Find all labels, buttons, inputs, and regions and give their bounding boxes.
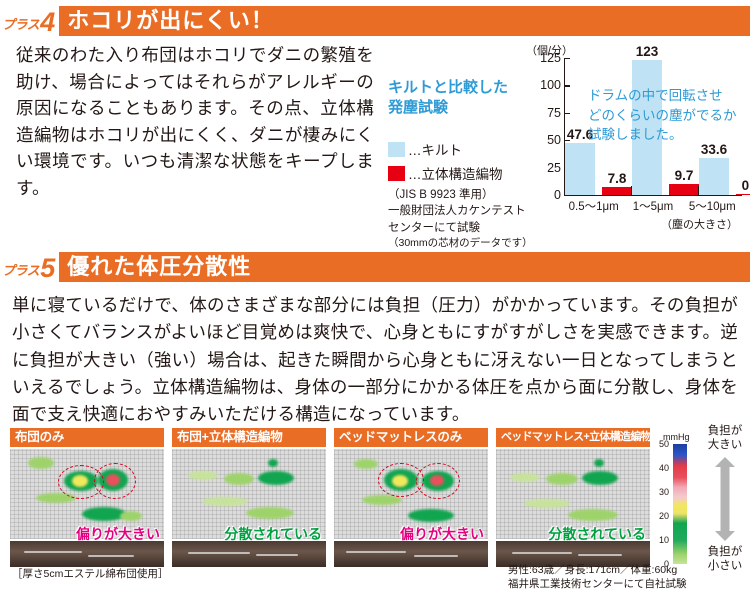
pressure-blob — [246, 507, 294, 519]
chart-bar-value-quilt-1: 123 — [636, 44, 659, 59]
product-feature-page: プラス 4 ホコリが出にくい！ 従来のわた入り布団はホコリでダニの繁殖を助け、場… — [0, 0, 750, 608]
plus-number-label-5: 5 — [40, 255, 55, 282]
side-view-line — [578, 554, 622, 556]
legend-entry-knit: …立体構造編物 — [388, 163, 526, 183]
pressure-blob — [268, 459, 278, 467]
chart-x-axis-labels: 0.5〜1μm 1〜5μm 5〜10μm — [564, 198, 742, 214]
chart-annotation-line-3: 試験しました。 — [588, 125, 748, 145]
dust-test-notes: （JIS B 9923 準用） 一般財団法人カケンテスト センターにて試験 （3… — [388, 187, 526, 251]
legend-swatch-knit-icon — [388, 166, 405, 181]
chart-ytick-50: 50 — [547, 133, 565, 147]
section-5-header: プラス 5 優れた体圧分散性 — [0, 252, 750, 282]
chart-bar-quilt-0: 47.6 — [565, 143, 595, 195]
pressure-hotspot-ring — [94, 463, 136, 499]
pressure-blob — [258, 471, 294, 485]
chart-ytick-75: 75 — [547, 106, 565, 120]
legend-title-line-1: キルトと比較した — [388, 78, 526, 98]
dust-note-org-line-2: センターにて試験 — [388, 220, 526, 236]
side-view-line — [24, 551, 82, 553]
side-view-line — [346, 551, 406, 553]
burden-low-label: 負担が 小さい — [700, 545, 750, 574]
chart-x-axis-caption: （塵の大きさ） — [564, 216, 742, 232]
dust-emission-bar-chart: （個/分） 125 100 75 50 25 0 47.6 7.8 — [524, 42, 748, 238]
pressure-side-view-2 — [334, 541, 488, 567]
dust-test-legend-title: キルトと比較した 発塵試験 — [388, 78, 526, 117]
pressure-panel-futon-plus-knit: 布団+立体構造編物 分散されている — [172, 428, 326, 576]
burden-indicator: 負担が 大きい 負担が 小さい — [700, 424, 750, 574]
pressure-blob — [202, 497, 248, 506]
section-4-body-text: 従来のわた入り布団はホコリでダニの繁殖を助け、場合によってはそれらがアレルギーの… — [16, 42, 374, 202]
side-view-line — [256, 554, 298, 556]
pressure-side-view-1 — [172, 541, 326, 567]
dust-note-sample: （30mmの芯材のデータです） — [388, 236, 526, 251]
pressure-panel-title-3: ベッドマットレス+立体構造編物 — [496, 428, 650, 447]
pressure-blob — [120, 511, 142, 521]
pressure-blob — [408, 509, 454, 522]
chart-bar-value-knit-1: 9.7 — [675, 168, 694, 183]
burden-low-line-1: 負担が — [700, 545, 750, 559]
legend-label-quilt: …キルト — [408, 139, 462, 159]
chart-xlabel-1: 1〜5μm — [623, 198, 682, 214]
pressure-blob — [354, 459, 378, 469]
side-view-line — [414, 555, 458, 557]
pressure-scale-tick-50: 50 — [659, 439, 669, 449]
arrow-down-tip-icon — [715, 531, 735, 541]
legend-label-knit: …立体構造編物 — [408, 163, 503, 183]
arrow-stem — [721, 466, 730, 532]
pressure-scale-tick-30: 30 — [659, 487, 669, 497]
chart-ytick-25: 25 — [547, 161, 565, 175]
pressure-blob — [510, 473, 540, 482]
pressure-side-view-0 — [10, 541, 164, 567]
footnote-right-line-2: 福井県工業技術センターにて自社試験 — [508, 578, 687, 592]
side-view-line — [512, 552, 572, 554]
chart-ytick-125: 125 — [540, 51, 565, 65]
pressure-blob — [582, 471, 618, 485]
section-5-body-text: 単に寝ているだけで、体のさまざまな部分には負担（圧力）がかかっています。その負担… — [12, 292, 738, 428]
burden-high-line-2: 大きい — [700, 438, 750, 452]
plus-tag-5: プラス 5 — [0, 252, 59, 282]
pressure-panel-title-2: ベッドマットレスのみ — [334, 428, 488, 447]
pressure-blob — [28, 457, 54, 469]
footnote-left: ［厚さ5cmエステル綿布団使用］ — [12, 568, 168, 582]
pressure-blob — [188, 471, 218, 480]
legend-entry-quilt: …キルト — [388, 139, 526, 159]
pressure-blob — [594, 459, 604, 467]
chart-xlabel-0: 0.5〜1μm — [564, 198, 623, 214]
chart-annotation-line-2: どのくらいの塵がでるか — [588, 106, 748, 126]
pressure-scale-gradient — [673, 444, 687, 564]
section-4-header: プラス 4 ホコリが出にくい！ — [0, 6, 750, 36]
plus-number-label: 4 — [40, 9, 55, 36]
side-view-line — [188, 552, 250, 554]
burden-high-line-1: 負担が — [700, 424, 750, 438]
section-4-band-tail — [286, 6, 750, 36]
chart-bar-value-knit-0: 7.8 — [608, 171, 627, 186]
plus-word-label: プラス — [2, 14, 39, 36]
chart-bar-knit-2: 0.8 — [736, 194, 750, 195]
dust-test-legend: キルトと比較した 発塵試験 …キルト …立体構造編物 （JIS B 9923 準… — [388, 78, 526, 251]
chart-ytick-100: 100 — [540, 78, 565, 92]
pressure-panel-mattress-plus-knit: ベッドマットレス+立体構造編物 分散されている — [496, 428, 650, 576]
pressure-hotspot-ring — [416, 463, 460, 499]
chart-annotation: ドラムの中で回転させ どのくらいの塵がでるか 試験しました。 — [588, 86, 748, 145]
burden-low-line-2: 小さい — [700, 559, 750, 573]
pressure-blob — [524, 499, 570, 508]
pressure-panel-title-1: 布団+立体構造編物 — [172, 428, 326, 447]
pressure-blob — [224, 473, 254, 485]
pressure-scale-tick-20: 20 — [659, 511, 669, 521]
chart-annotation-line-1: ドラムの中で回転させ — [588, 86, 748, 106]
pressure-scale-ticks: 50 40 30 20 10 0 — [655, 444, 671, 564]
chart-bar-knit-1: 9.7 — [669, 184, 699, 195]
section-5-band-tail — [263, 252, 750, 282]
pressure-blob — [568, 509, 618, 521]
dust-note-standard: （JIS B 9923 準用） — [388, 187, 526, 203]
burden-high-label: 負担が 大きい — [700, 424, 750, 453]
pressure-scale-tick-10: 10 — [659, 535, 669, 545]
chart-bar-value-knit-2: 0.8 — [742, 178, 750, 193]
side-view-line — [88, 555, 134, 557]
legend-entries: …キルト …立体構造編物 — [388, 139, 526, 183]
section-4-title: ホコリが出にくい！ — [59, 6, 286, 36]
section-5-title: 優れた体圧分散性 — [59, 252, 263, 282]
chart-bar-quilt-2: 33.6 — [699, 158, 729, 195]
pressure-blob — [546, 473, 578, 485]
pressure-panel-futon-only: 布団のみ 偏りが大きい — [10, 428, 164, 576]
pressure-panel-mattress-only: ベッドマットレスのみ 偏りが大きい — [334, 428, 488, 576]
pressure-panel-title-0: 布団のみ — [10, 428, 164, 447]
chart-xlabel-2: 5〜10μm — [683, 198, 742, 214]
pressure-scale-tick-40: 40 — [659, 463, 669, 473]
plus-tag-4: プラス 4 — [0, 6, 59, 36]
footnote-right-line-1: 男性:63歳／身長:171cm／体重:60kg — [508, 564, 687, 578]
legend-swatch-quilt-icon — [388, 142, 405, 157]
plus-word-label-5: プラス — [2, 260, 39, 282]
burden-double-arrow-icon — [700, 457, 750, 541]
dust-note-org-line-1: 一般財団法人カケンテスト — [388, 203, 526, 219]
legend-title-line-2: 発塵試験 — [388, 98, 526, 118]
footnote-right: 男性:63歳／身長:171cm／体重:60kg 福井県工業技術センターにて自社試… — [508, 564, 687, 591]
chart-bar-knit-0: 7.8 — [602, 187, 632, 195]
pressure-map-panels: 布団のみ 偏りが大きい 布団+立体構造編物 — [10, 428, 650, 576]
